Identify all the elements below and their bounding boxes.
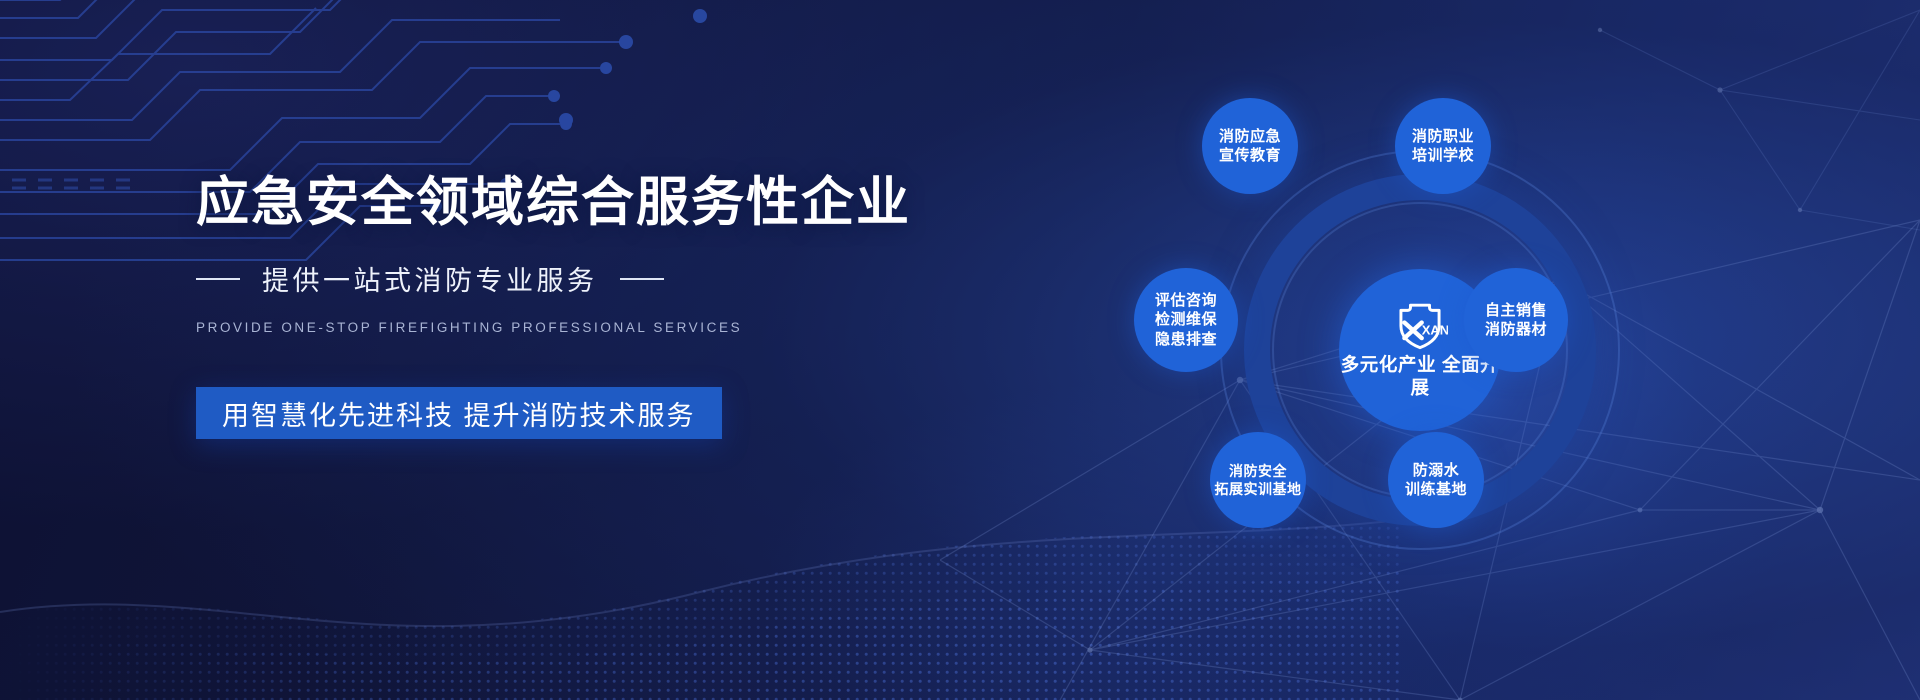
banner-background: 应急安全领域综合服务性企业 提供一站式消防专业服务 PROVIDE ONE-ST… bbox=[0, 0, 1920, 700]
node-line-1: 防溺水 bbox=[1413, 461, 1460, 481]
node-line-1: 消防安全 bbox=[1229, 462, 1287, 480]
node-line-2: 检测维保 bbox=[1155, 310, 1217, 330]
node-anti-drowning-base[interactable]: 防溺水 训练基地 bbox=[1388, 432, 1484, 528]
node-line-3: 隐患排查 bbox=[1155, 330, 1217, 350]
page-title: 应急安全领域综合服务性企业 bbox=[196, 172, 1016, 233]
node-line-1: 自主销售 bbox=[1485, 301, 1547, 321]
node-assessment-inspection[interactable]: 评估咨询 检测维保 隐患排查 bbox=[1134, 268, 1238, 372]
dash-left-icon bbox=[196, 278, 240, 280]
cta-button[interactable]: 用智慧化先进科技 提升消防技术服务 bbox=[196, 387, 722, 439]
node-line-1: 评估咨询 bbox=[1155, 291, 1217, 311]
subtitle-row: 提供一站式消防专业服务 bbox=[196, 259, 1016, 298]
node-fire-vocational-school[interactable]: 消防职业 培训学校 bbox=[1395, 98, 1491, 194]
services-diagram: XAN 多元化产业 全面开展 消防应急 宣传教育 消防职业 培训学校 评估咨询 … bbox=[1140, 70, 1700, 630]
english-subtitle: PROVIDE ONE-STOP FIREFIGHTING PROFESSION… bbox=[196, 320, 1016, 335]
node-fire-emergency-education[interactable]: 消防应急 宣传教育 bbox=[1202, 98, 1298, 194]
hub-label: 多元化产业 全面开展 bbox=[1339, 354, 1501, 399]
node-safety-training-base[interactable]: 消防安全 拓展实训基地 bbox=[1210, 432, 1306, 528]
node-line-2: 训练基地 bbox=[1405, 480, 1467, 500]
dash-right-icon bbox=[620, 278, 664, 280]
node-line-1: 消防职业 bbox=[1412, 127, 1474, 147]
node-equipment-sales[interactable]: 自主销售 消防器材 bbox=[1464, 268, 1568, 372]
logo-text: XAN bbox=[1422, 323, 1448, 338]
node-line-2: 宣传教育 bbox=[1219, 146, 1281, 166]
node-line-2: 消防器材 bbox=[1485, 320, 1547, 340]
hub-label-line1: 多元化产业 bbox=[1341, 354, 1437, 375]
hero-copy: 应急安全领域综合服务性企业 提供一站式消防专业服务 PROVIDE ONE-ST… bbox=[196, 172, 1016, 439]
node-line-1: 消防应急 bbox=[1219, 127, 1281, 147]
shield-xan-logo-icon: XAN bbox=[1392, 300, 1448, 352]
node-line-2: 培训学校 bbox=[1412, 146, 1474, 166]
node-line-2: 拓展实训基地 bbox=[1215, 480, 1302, 498]
subtitle-text: 提供一站式消防专业服务 bbox=[262, 259, 598, 298]
